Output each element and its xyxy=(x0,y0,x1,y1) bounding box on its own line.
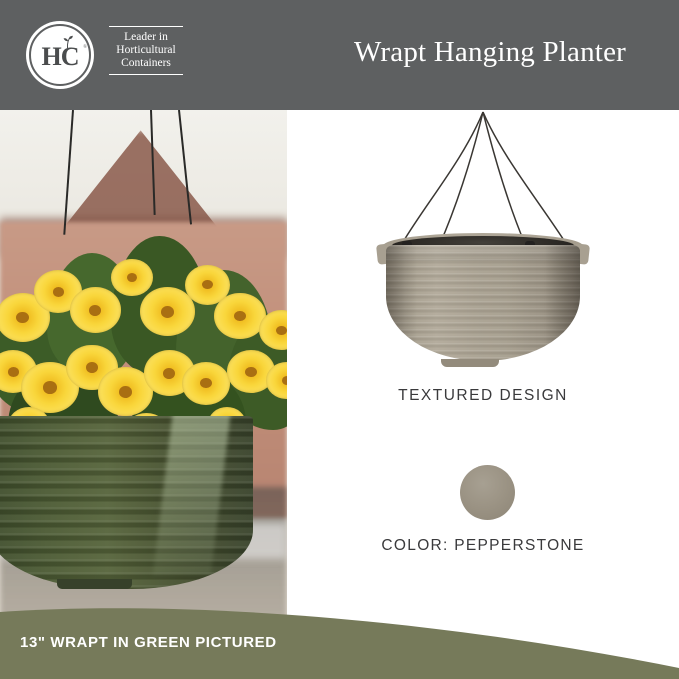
logo-tagline: Leader in Horticultural Containers xyxy=(106,26,186,75)
tagline-line-2: Horticultural xyxy=(106,44,186,57)
trademark-symbol: ® xyxy=(83,45,87,50)
tagline-line-3: Containers xyxy=(106,57,186,70)
tagline-rule-bottom xyxy=(109,74,183,75)
logo-monogram: HC xyxy=(26,21,94,89)
product-infographic: HC ® Leader in Horticultural Containers … xyxy=(0,0,679,679)
product-photo xyxy=(287,110,679,375)
lifestyle-photo xyxy=(0,110,287,620)
header-bar: HC ® Leader in Horticultural Containers … xyxy=(0,0,679,110)
planter-right-shading xyxy=(545,245,580,361)
banner-caption: 13" WRAPT IN GREEN PICTURED xyxy=(20,634,277,651)
color-swatch xyxy=(460,465,515,520)
planter-base xyxy=(441,359,499,367)
planter-left-shading xyxy=(386,245,417,361)
color-caption: COLOR: PEPPERSTONE xyxy=(287,537,679,555)
planter-body xyxy=(386,245,580,361)
product-panel: TEXTURED DESIGN COLOR: PEPPERSTONE xyxy=(287,110,679,679)
textured-design-caption: TEXTURED DESIGN xyxy=(287,387,679,405)
photo-green-planter xyxy=(0,416,253,589)
hc-logo: HC ® xyxy=(26,21,96,91)
tagline-line-1: Leader in xyxy=(106,31,186,44)
page-title: Wrapt Hanging Planter xyxy=(320,36,660,69)
tagline-rule-top xyxy=(109,26,183,27)
leaf-sprig-icon xyxy=(60,35,76,49)
photo-planter-base xyxy=(57,579,132,589)
pepperstone-planter xyxy=(383,233,583,363)
